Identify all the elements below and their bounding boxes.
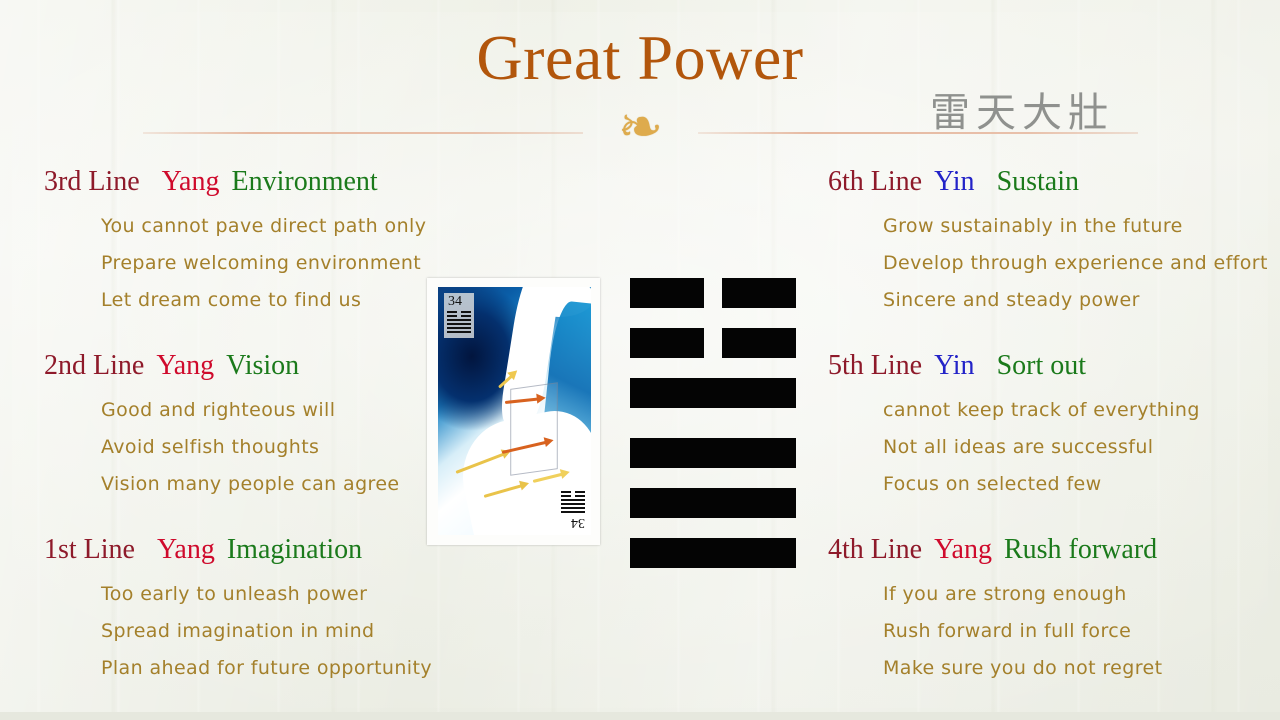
card-artwork: 34 34 bbox=[438, 287, 591, 535]
line-bullet-list: If you are strong enough Rush forward in… bbox=[828, 576, 1278, 687]
list-item: If you are strong enough bbox=[828, 576, 1278, 613]
hexagram-line-2-solid bbox=[630, 488, 796, 518]
line-topic-label: Sustain bbox=[997, 166, 1079, 197]
artwork-shape bbox=[510, 382, 557, 476]
slide-header: Great Power 雷天大壯 ❧ bbox=[0, 0, 1280, 150]
list-item: Not all ideas are successful bbox=[828, 429, 1278, 466]
list-item: Grow sustainably in the future bbox=[828, 208, 1278, 245]
line-topic-label: Rush forward bbox=[1004, 534, 1157, 565]
line-topic-label: Environment bbox=[232, 166, 378, 197]
line-heading: 3rd LineYangEnvironment bbox=[44, 162, 494, 202]
hexagram-line-1-solid bbox=[630, 538, 796, 568]
line-polarity-label: Yin bbox=[934, 166, 974, 197]
list-item: Prepare welcoming environment bbox=[44, 245, 494, 282]
line-number-label: 4th Line bbox=[828, 534, 922, 565]
line-topic-label: Vision bbox=[226, 350, 299, 381]
line-bullet-list: cannot keep track of everything Not all … bbox=[828, 392, 1278, 503]
line-heading: 4th LineYangRush forward bbox=[828, 530, 1278, 570]
line-topic-label: Sort out bbox=[997, 350, 1086, 381]
list-item: Make sure you do not regret bbox=[828, 650, 1278, 687]
line-block-4th: 4th LineYangRush forward If you are stro… bbox=[828, 530, 1278, 702]
list-item: Plan ahead for future opportunity bbox=[44, 650, 494, 687]
card-mini-hexagram-icon bbox=[447, 311, 472, 333]
hexagram-card-image: 34 34 bbox=[427, 278, 600, 545]
line-number-label: 3rd Line bbox=[44, 166, 140, 197]
line-polarity-label: Yang bbox=[934, 534, 992, 565]
card-number-label: 34 bbox=[447, 294, 472, 309]
hexagram-line-5-broken bbox=[630, 328, 796, 358]
flourish-ornament-icon: ❧ bbox=[618, 100, 663, 154]
line-number-label: 1st Line bbox=[44, 534, 135, 565]
line-block-6th: 6th LineYinSustain Grow sustainably in t… bbox=[828, 162, 1278, 334]
hexagram-line-3-solid bbox=[630, 438, 796, 468]
card-corner-number-label: 34 bbox=[559, 515, 585, 530]
card-corner-tag: 34 bbox=[559, 489, 585, 530]
line-heading: 5th LineYinSort out bbox=[828, 346, 1278, 386]
list-item: cannot keep track of everything bbox=[828, 392, 1278, 429]
line-polarity-label: Yang bbox=[162, 166, 220, 197]
divider-line-left bbox=[143, 132, 583, 134]
line-topic-label: Imagination bbox=[227, 534, 362, 565]
line-bullet-list: Grow sustainably in the future Develop t… bbox=[828, 208, 1278, 319]
card-corner-hexagram-icon bbox=[559, 491, 585, 513]
hexagram-diagram bbox=[630, 278, 796, 588]
list-item: Rush forward in full force bbox=[828, 613, 1278, 650]
line-polarity-label: Yin bbox=[934, 350, 974, 381]
slide-bottom-strip bbox=[0, 712, 1280, 720]
hexagram-line-6-broken bbox=[630, 278, 796, 308]
line-block-5th: 5th LineYinSort out cannot keep track of… bbox=[828, 346, 1278, 518]
slide-canvas: Great Power 雷天大壯 ❧ 3rd LineYangEnvironme… bbox=[0, 0, 1280, 720]
hexagram-line-4-solid bbox=[630, 378, 796, 408]
divider-line-right bbox=[698, 132, 1138, 134]
line-number-label: 2nd Line bbox=[44, 350, 144, 381]
line-number-label: 6th Line bbox=[828, 166, 922, 197]
title-divider: ❧ bbox=[143, 122, 1138, 158]
card-number-tag: 34 bbox=[444, 293, 474, 338]
list-item: You cannot pave direct path only bbox=[44, 208, 494, 245]
list-item: Develop through experience and effort bbox=[828, 245, 1278, 282]
list-item: Spread imagination in mind bbox=[44, 613, 494, 650]
list-item: Focus on selected few bbox=[828, 466, 1278, 503]
line-block-1st: 1st LineYangImagination Too early to unl… bbox=[44, 530, 494, 702]
list-item: Sincere and steady power bbox=[828, 282, 1278, 319]
line-polarity-label: Yang bbox=[157, 534, 215, 565]
line-bullet-list: Too early to unleash power Spread imagin… bbox=[44, 576, 494, 687]
line-polarity-label: Yang bbox=[156, 350, 214, 381]
line-number-label: 5th Line bbox=[828, 350, 922, 381]
right-column: 6th LineYinSustain Grow sustainably in t… bbox=[828, 162, 1278, 714]
list-item: Too early to unleash power bbox=[44, 576, 494, 613]
line-heading: 6th LineYinSustain bbox=[828, 162, 1278, 202]
